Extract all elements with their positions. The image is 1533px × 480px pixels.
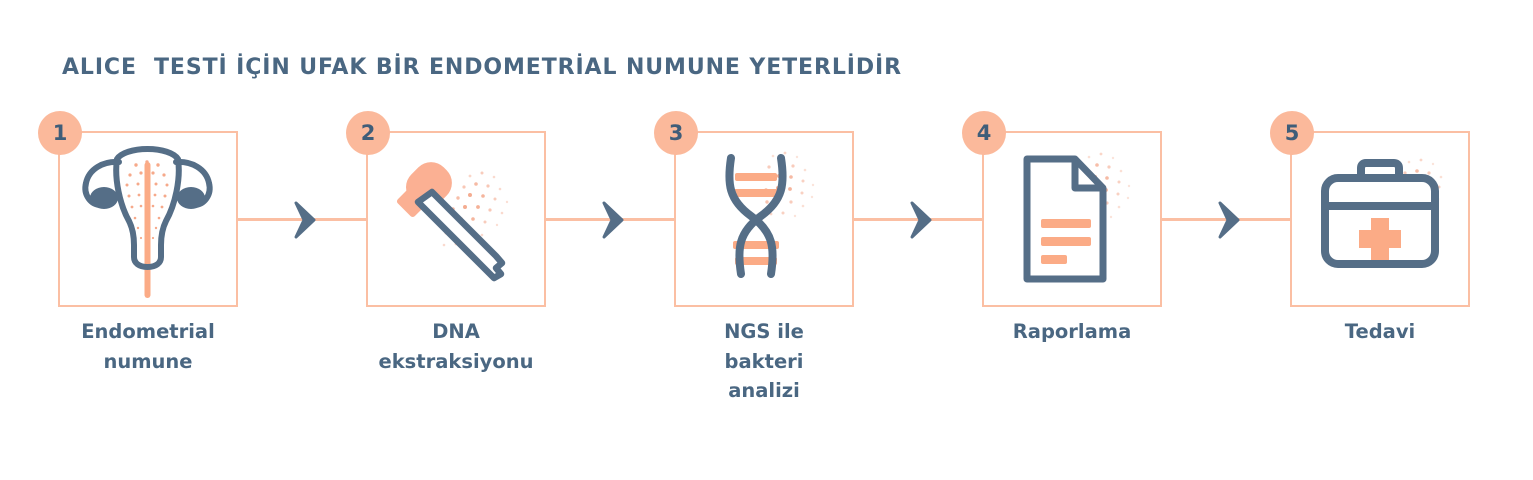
step-2-box: 2 [366, 131, 546, 307]
chevron-1-2-icon [292, 200, 318, 240]
step-4-label: Raporlama [948, 317, 1196, 347]
step-4-badge: 4 [962, 111, 1006, 155]
infographic-root: ALICE TESTİ İÇİN UFAK BİR ENDOMETRİAL NU… [0, 0, 1533, 480]
step-5-label: Tedavi [1256, 317, 1504, 347]
step-2-label: DNA ekstraksiyonu [332, 317, 580, 376]
step-5-badge: 5 [1270, 111, 1314, 155]
step-1-box: 1 [58, 131, 238, 307]
step-1-badge: 1 [38, 111, 82, 155]
step-1-label: Endometrial numune [24, 317, 272, 376]
chevron-2-3-icon [600, 200, 626, 240]
step-3-box: 3 [674, 131, 854, 307]
step-2-badge: 2 [346, 111, 390, 155]
step-5[interactable]: 5 [1290, 131, 1470, 307]
step-3[interactable]: 3 [674, 131, 854, 307]
step-3-badge: 3 [654, 111, 698, 155]
process-flow: 1 [0, 0, 1533, 480]
pipette-dropper-icon [368, 133, 544, 305]
step-5-box: 5 [1290, 131, 1470, 307]
step-4-box: 4 [982, 131, 1162, 307]
step-3-label: NGS ile bakteri analizi [640, 317, 888, 406]
chevron-4-5-icon [1216, 200, 1242, 240]
document-report-icon [984, 133, 1160, 305]
step-4[interactable]: 4 [982, 131, 1162, 307]
step-2[interactable]: 2 [366, 131, 546, 307]
medical-case-icon [1292, 133, 1468, 305]
dna-helix-icon [676, 133, 852, 305]
chevron-3-4-icon [908, 200, 934, 240]
step-1[interactable]: 1 [58, 131, 238, 307]
uterus-catheter-icon [60, 133, 236, 305]
